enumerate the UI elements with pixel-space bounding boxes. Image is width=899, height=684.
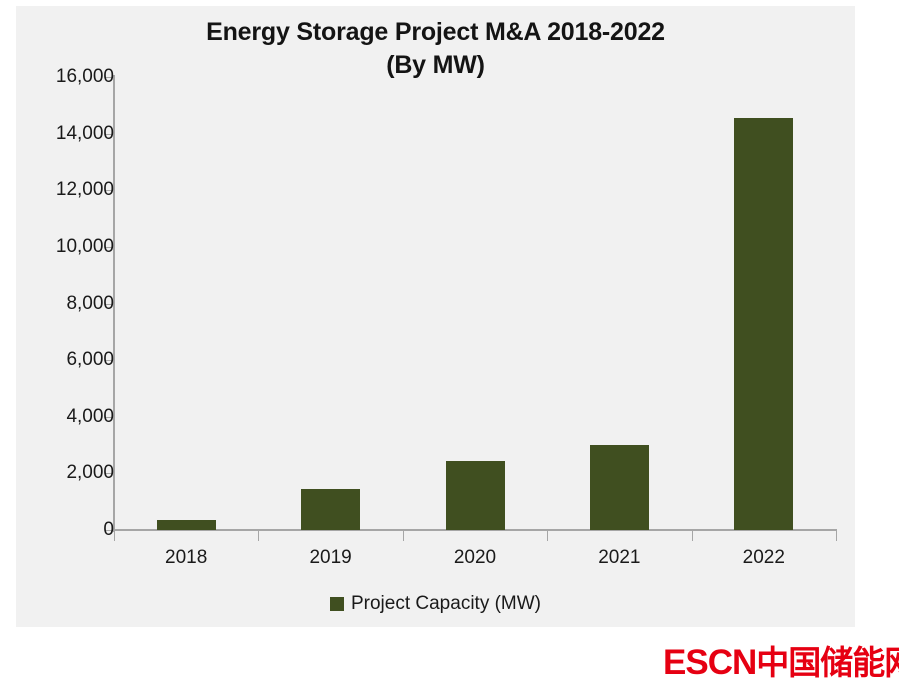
chart-title-line-1: Energy Storage Project M&A 2018-2022 (206, 18, 665, 46)
plot-area (114, 77, 836, 530)
x-axis-tick-label: 2021 (547, 547, 691, 569)
x-axis-tick-label: 2020 (403, 547, 547, 569)
x-axis-tick (403, 531, 404, 541)
x-axis-tick (836, 531, 837, 541)
y-axis-tick-label: 6,000 (30, 349, 114, 371)
x-axis-tick (258, 531, 259, 541)
x-axis-tick-label: 2018 (114, 547, 258, 569)
y-axis-tick-label: 4,000 (30, 406, 114, 428)
y-axis-tick-label: 16,000 (30, 66, 114, 88)
x-axis-tick (547, 531, 548, 541)
x-axis-tick (692, 531, 693, 541)
y-axis-tick-label: 8,000 (30, 293, 114, 315)
legend-swatch-project-capacity (330, 597, 344, 611)
chart-title: Energy Storage Project M&A 2018-2022 (By… (16, 16, 855, 82)
x-axis-tick-label: 2022 (692, 547, 836, 569)
y-axis-tick-label: 0 (30, 519, 114, 541)
bar-2020 (446, 461, 505, 530)
legend-label-project-capacity: Project Capacity (MW) (351, 593, 541, 615)
x-axis-tick-label: 2019 (258, 547, 402, 569)
y-axis-tick-label: 12,000 (30, 179, 114, 201)
chart-legend: Project Capacity (MW) (16, 593, 855, 615)
y-axis-tick-label: 2,000 (30, 462, 114, 484)
chart-container: Energy Storage Project M&A 2018-2022 (By… (16, 6, 855, 627)
x-axis-tick (114, 531, 115, 541)
bar-2021 (590, 445, 649, 530)
y-axis-tick-label: 14,000 (30, 123, 114, 145)
y-axis-tick-label: 10,000 (30, 236, 114, 258)
bar-2022 (734, 118, 793, 530)
bar-2018 (157, 520, 216, 530)
watermark-latin-text: ESCN (663, 643, 756, 683)
escn-watermark-logo: ESCN 中国储能网 (663, 636, 899, 684)
bar-2019 (301, 489, 360, 530)
watermark-cjk-text: 中国储能网 (756, 636, 899, 684)
